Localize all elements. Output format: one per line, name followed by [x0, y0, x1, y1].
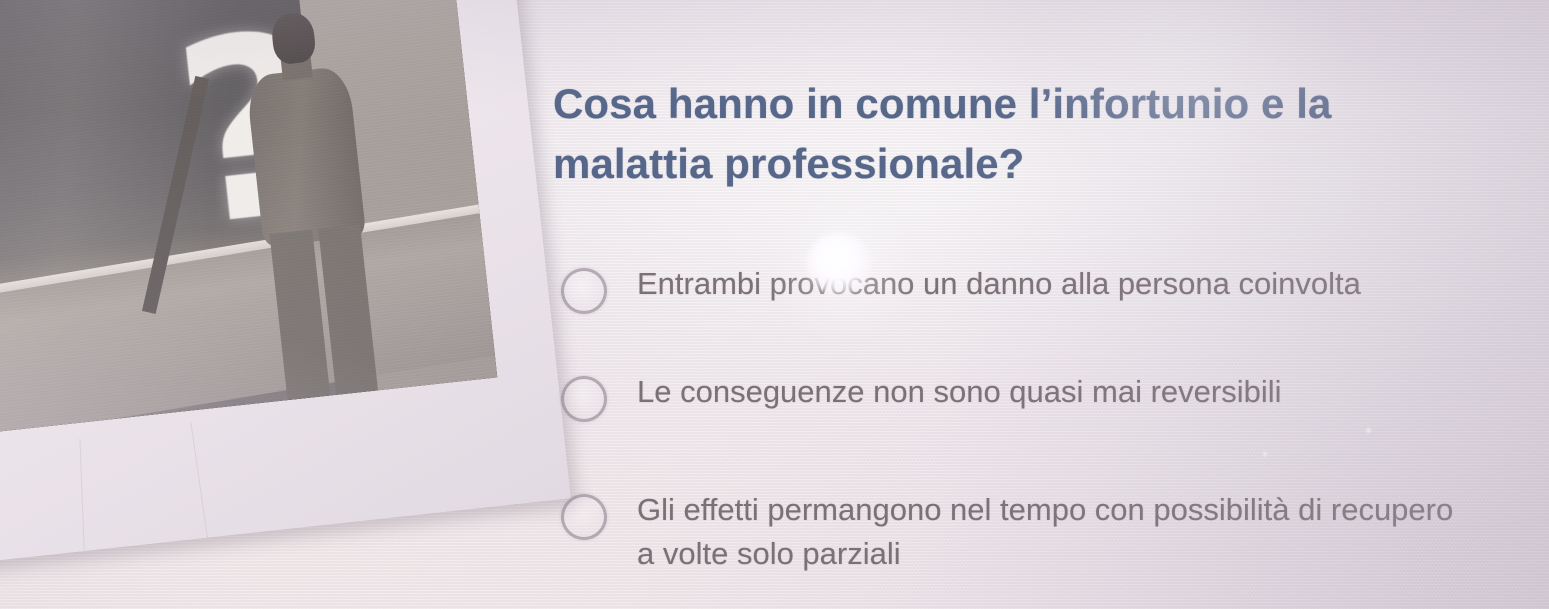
radio-button-icon-3[interactable]: [561, 494, 607, 540]
answer-option-label-3: Gli effetti permangono nel tempo con pos…: [637, 488, 1457, 576]
radio-button-icon-1[interactable]: [561, 268, 607, 314]
radio-button-icon-2[interactable]: [561, 376, 607, 422]
answer-option-label-1: Entrambi provocano un danno alla persona…: [637, 262, 1361, 306]
answer-option-1[interactable]: Entrambi provocano un danno alla persona…: [551, 262, 1511, 336]
page-title: Cosa hanno in comune l’infortunio e la m…: [553, 74, 1493, 194]
quiz-screen: ? Cosa hanno in comune l’infortunio e la…: [0, 0, 1549, 609]
photo-haze: [0, 0, 497, 433]
polaroid-photo: ?: [0, 0, 497, 433]
polaroid-crease-a: [79, 439, 84, 551]
polaroid-crease-b: [190, 423, 208, 538]
question-illustration: ?: [0, 0, 576, 575]
polaroid-frame: ?: [0, 0, 571, 567]
answer-option-label-2: Le conseguenze non sono quasi mai revers…: [637, 370, 1282, 414]
answer-options-list: Entrambi provocano un danno alla persona…: [551, 262, 1511, 576]
answer-option-3[interactable]: Gli effetti permangono nel tempo con pos…: [551, 488, 1511, 576]
answer-option-2[interactable]: Le conseguenze non sono quasi mai revers…: [551, 370, 1511, 444]
question-panel: Cosa hanno in comune l’infortunio e la m…: [551, 0, 1549, 609]
